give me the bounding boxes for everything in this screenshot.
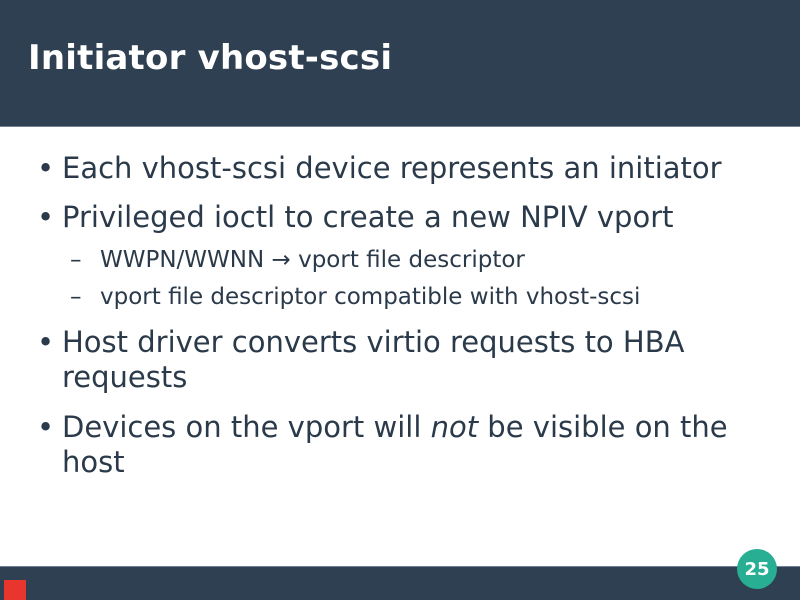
bullet-text: Devices on the vport will not be visible… <box>62 410 772 481</box>
slide-content: • Each vhost-scsi device represents an i… <box>0 127 800 566</box>
sub-bullet-marker-icon: – <box>70 246 82 274</box>
bullet-marker-icon: • <box>37 325 54 360</box>
sub-bullet-list: – WWPN/WWNN → vport file descriptor – vp… <box>70 246 772 311</box>
bullet-text-lead: Devices on the vport will <box>62 410 431 444</box>
page-number-badge: 25 <box>737 549 777 589</box>
page-title: Initiator vhost-scsi <box>28 38 392 78</box>
bullet-marker-icon: • <box>37 200 54 235</box>
sub-bullet-marker-icon: – <box>70 283 82 311</box>
bullet-marker-icon: • <box>37 410 54 445</box>
bullet-marker-icon: • <box>37 151 54 186</box>
slide-header-band: Initiator vhost-scsi <box>0 0 800 127</box>
sub-bullet-text: WWPN/WWNN → vport file descriptor <box>100 247 525 273</box>
bullet-text-emphasis: not <box>431 410 479 444</box>
bullet-text: Privileged ioctl to create a new NPIV vp… <box>62 200 772 235</box>
bullet-list: • Each vhost-scsi device represents an i… <box>28 151 772 480</box>
bullet-item: • Each vhost-scsi device represents an i… <box>28 151 772 186</box>
footer-accent-square <box>4 580 26 600</box>
bullet-text: Each vhost-scsi device represents an ini… <box>62 151 772 186</box>
sub-bullet-item: – vport file descriptor compatible with … <box>70 283 772 311</box>
bullet-text: Host driver converts virtio requests to … <box>62 325 772 396</box>
sub-bullet-item: – WWPN/WWNN → vport file descriptor <box>70 246 772 274</box>
bullet-item: • Privileged ioctl to create a new NPIV … <box>28 200 772 310</box>
bullet-item: • Host driver converts virtio requests t… <box>28 325 772 396</box>
sub-bullet-text: vport file descriptor compatible with vh… <box>100 284 640 310</box>
slide: Initiator vhost-scsi • Each vhost-scsi d… <box>0 0 800 600</box>
slide-footer-band <box>0 566 800 600</box>
bullet-item: • Devices on the vport will not be visib… <box>28 410 772 481</box>
